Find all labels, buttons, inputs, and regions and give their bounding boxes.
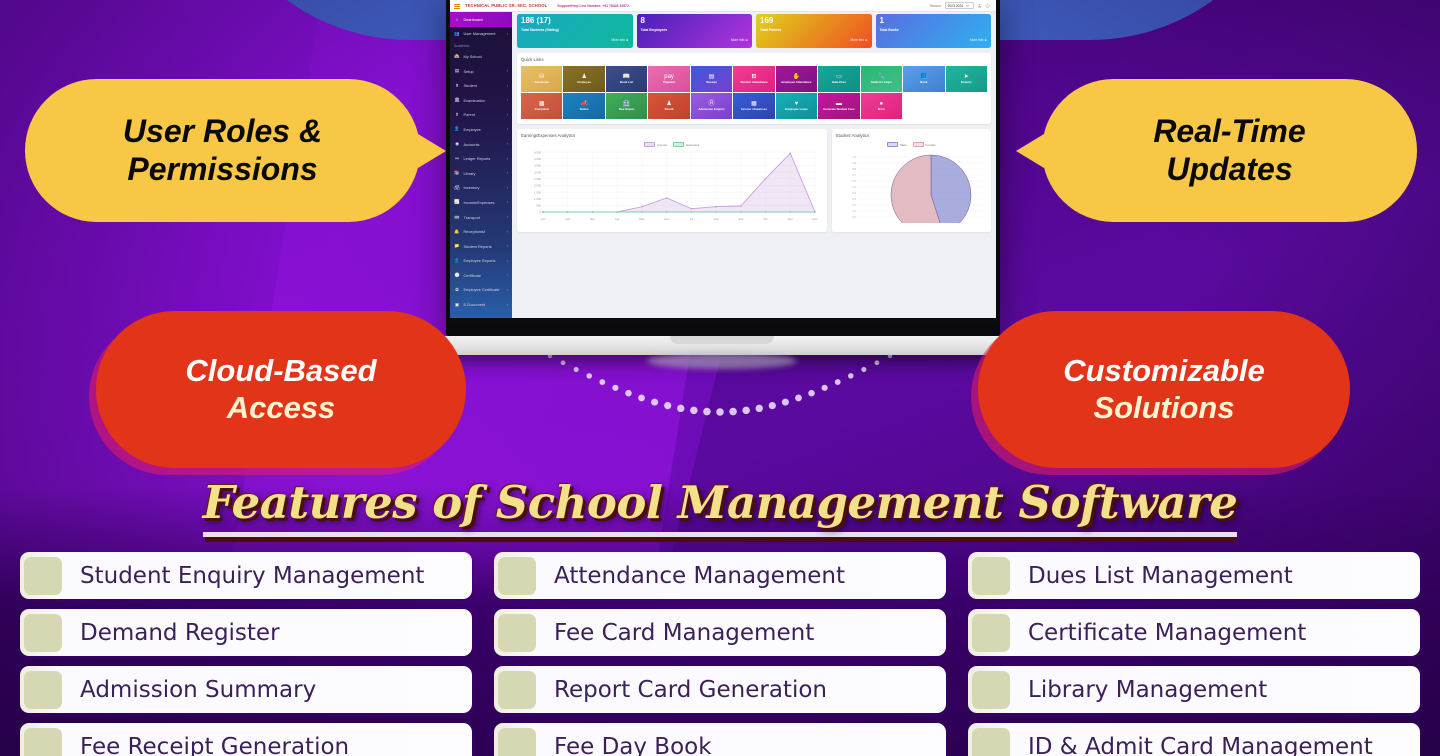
sidebar-item-my-school[interactable]: 🏫My School [450, 49, 512, 64]
quick-links-card: Quick Links ⛁Admission♟Employee📖Book Lis… [517, 53, 991, 124]
svg-text:Dec: Dec [813, 217, 819, 221]
feature-label: Attendance Management [536, 563, 845, 589]
quick-link-gate-pass[interactable]: ▭Gate-Pass [818, 66, 859, 92]
sidebar-item-certificate[interactable]: ⬤Certificate‹ [450, 268, 512, 283]
legend-swatch [673, 142, 684, 147]
feature-label: Demand Register [62, 620, 280, 646]
stat-value: 8 [641, 17, 749, 25]
chevron-left-icon: ‹ [507, 200, 508, 204]
result-icon: ♟ [666, 101, 671, 107]
parent-icon: ⚱ [454, 112, 460, 118]
chevron-left-icon: ‹ [507, 244, 508, 248]
quick-link-label: Admission Enquiry [698, 108, 724, 111]
legend-item: Female [913, 142, 936, 147]
feature-bullet-icon [24, 671, 62, 709]
sidebar-item-income-expenses[interactable]: 📈Income/Expenses‹ [450, 195, 512, 210]
stat-card[interactable]: 8Total EmployeesMore Info ⊕ [637, 14, 753, 48]
chevron-left-icon: ‹ [507, 32, 508, 36]
chevron-left-icon: ‹ [507, 186, 508, 190]
feature-bullet-icon [498, 557, 536, 595]
quick-links-title: Quick Links [521, 57, 987, 62]
earning-chart-svg: 05001,0001,5002,0002,5003,0003,5004,0004… [521, 149, 821, 223]
bell-icon: 🔔 [454, 229, 460, 235]
quick-link-book[interactable]: 📘Book [903, 66, 944, 92]
quick-link-admission[interactable]: ⛁Admission [521, 66, 562, 92]
sidebar-item-label: Student Reports [464, 244, 492, 249]
quick-link-label: Enquiry [961, 81, 972, 84]
quick-link-student-ledger[interactable]: 🔧Student Ledger [861, 66, 902, 92]
feature-label: Admission Summary [62, 677, 316, 703]
box-icon: 🗃 [454, 185, 460, 191]
chevron-left-icon: ‹ [507, 273, 508, 277]
callout-line: Access [227, 390, 336, 427]
quick-link-label: Employee [577, 81, 591, 84]
home-icon: ⌂ [454, 17, 460, 22]
laptop-mockup: TECHNICAL PUBLIC SR. SEC. SCHOOL Support… [446, 0, 1000, 355]
feature-bullet-icon [498, 614, 536, 652]
svg-text:0.5: 0.5 [852, 185, 856, 189]
chevron-left-icon: ‹ [507, 69, 508, 73]
sidebar-item-label: Parent [464, 112, 475, 117]
sidebar-item-label: Certificate [464, 273, 482, 278]
school-name: TECHNICAL PUBLIC SR. SEC. SCHOOL [465, 3, 547, 8]
sidebar-item-student-reports[interactable]: 📁Student Reports‹ [450, 239, 512, 254]
network-icon: ⚯ [454, 156, 460, 162]
laptop-base [384, 336, 1060, 355]
stat-cards: 186 (17)Total Students (Sibling)More Inf… [517, 14, 991, 48]
book-icon: 📖 [623, 74, 630, 80]
topbar-right: Session: 2023-2024 [930, 2, 992, 9]
legend-swatch [644, 142, 655, 147]
quick-link-label: Gate-Pass [832, 81, 846, 84]
quick-link-label: Payment [663, 81, 675, 84]
legend-swatch [913, 142, 924, 147]
quick-link-income-expenses[interactable]: ▦Income / Expenses [733, 93, 774, 119]
megaphone-icon: 📣 [580, 101, 587, 107]
legend-label: Male [900, 143, 907, 147]
badge-icon: Ⓡ [709, 101, 715, 107]
quick-link-student-attendance[interactable]: ⛾Student Attendance [733, 66, 774, 92]
sidebar-item-inventory[interactable]: 🗃Inventory‹ [450, 181, 512, 196]
receipt-icon: ▤ [709, 74, 715, 80]
stat-label: Total Books [880, 28, 988, 32]
stat-more-link[interactable]: More Info ⊕ [521, 38, 629, 42]
sidebar-item-label: E-Document [464, 302, 486, 307]
feature-label: Report Card Generation [536, 677, 827, 703]
quick-link-label: Employee Attendance [781, 81, 811, 84]
callout-customizable: Customizable Solutions [978, 311, 1350, 468]
chevron-left-icon: ‹ [507, 84, 508, 88]
quick-link-label: Book [920, 81, 927, 84]
feature-label: Certificate Management [1010, 620, 1306, 646]
svg-text:Sep: Sep [738, 217, 743, 221]
stat-more-link[interactable]: More Info ⊕ [760, 38, 868, 42]
svg-text:0.3: 0.3 [852, 197, 856, 201]
sidebar-item-label: Employee [464, 127, 481, 132]
power-icon[interactable] [985, 3, 990, 8]
svg-text:2,500: 2,500 [534, 177, 541, 181]
quick-link-label: Result [665, 108, 674, 111]
coin-icon: ◉ [454, 141, 460, 147]
dashboard-sidebar[interactable]: Technical Help India ⌂Dashboard👥User Man… [450, 0, 512, 318]
sidebar-item-label: User Management [464, 31, 496, 36]
quick-link-employee-attendance[interactable]: ✋Employee Attendance [776, 66, 817, 92]
svg-text:Jul: Jul [690, 217, 694, 221]
sidebar-item-label: Student [464, 83, 477, 88]
svg-text:4,500: 4,500 [534, 150, 541, 154]
stat-more-link[interactable]: More Info ⊕ [880, 38, 988, 42]
feature-bullet-icon [24, 728, 62, 756]
chevron-left-icon: ‹ [507, 127, 508, 131]
callout-line: Solutions [1093, 390, 1234, 427]
books-icon: 📚 [454, 170, 460, 176]
session-label: Session: [930, 4, 942, 8]
bank2-icon: 🏦 [623, 101, 630, 107]
svg-text:May: May [639, 217, 645, 221]
feature-item: Student Enquiry Management [20, 552, 472, 599]
stat-label: Total Employees [641, 28, 749, 32]
feature-bullet-icon [972, 557, 1010, 595]
quick-link-complaint[interactable]: ▦Complaint [521, 93, 562, 119]
feature-bullet-icon [972, 614, 1010, 652]
quick-link-label: Book List [620, 81, 633, 84]
quick-link-employee-leave[interactable]: ♥Employee Leave [776, 93, 817, 119]
feature-item: Fee Receipt Generation [20, 723, 472, 756]
sidebar-item-label: Ledger Reports [464, 156, 491, 161]
chevron-left-icon: ‹ [507, 303, 508, 307]
heart-icon: ♥ [795, 101, 799, 107]
section-title: Features of School Management Software [0, 476, 1440, 529]
sidebar-item-ledger-reports[interactable]: ⚯Ledger Reports‹ [450, 151, 512, 166]
callout-line: Cloud-Based [185, 353, 376, 390]
more-icon: ● [880, 101, 884, 107]
document-icon: ▣ [454, 302, 460, 308]
quick-link-more[interactable]: ●More [861, 93, 902, 119]
session-select[interactable]: 2023-2024 [945, 2, 974, 9]
callout-line: Permissions [127, 151, 317, 189]
svg-text:Aug: Aug [714, 217, 719, 221]
student-chart-svg: 1.00.90.80.70.60.50.40.30.20.10.0 [836, 149, 986, 223]
svg-text:June: June [664, 217, 671, 221]
chevron-left-icon: ‹ [507, 288, 508, 292]
gear-icon: ✿ [454, 287, 460, 293]
quick-link-label: Student Ledger [871, 81, 892, 84]
feature-item: Certificate Management [968, 609, 1420, 656]
chevron-left-icon: ‹ [507, 230, 508, 234]
legend-label: Female [926, 143, 936, 147]
student-chart-title: Student Analytics [836, 133, 987, 138]
quick-link-result[interactable]: ♟Result [648, 93, 689, 119]
feature-bullet-icon [498, 671, 536, 709]
person-icon: 👤 [454, 258, 460, 264]
app-topbar: TECHNICAL PUBLIC SR. SEC. SCHOOL Support… [450, 0, 996, 12]
svg-text:0.1: 0.1 [852, 209, 856, 213]
feature-label: Dues List Management [1010, 563, 1293, 589]
feature-bullet-icon [498, 728, 536, 756]
sidebar-item-library[interactable]: 📚Library‹ [450, 166, 512, 181]
callout-user-roles: User Roles & Permissions [25, 79, 420, 222]
sidebar-item-employee[interactable]: 👤Employee‹ [450, 122, 512, 137]
feature-item: Demand Register [20, 609, 472, 656]
svg-text:3,500: 3,500 [534, 164, 541, 168]
svg-text:4,000: 4,000 [534, 157, 541, 161]
plane-icon: ➤ [964, 74, 969, 80]
quick-link-notice[interactable]: 📣Notice [563, 93, 604, 119]
sidebar-item-label: Receptionist [464, 229, 485, 234]
hamburger-icon[interactable] [454, 3, 460, 9]
stat-card[interactable]: 1Total BooksMore Info ⊕ [876, 14, 992, 48]
feature-label: ID & Admit Card Management [1010, 734, 1373, 756]
legend-label: Expenses [686, 143, 699, 147]
sidebar-item-parent[interactable]: ⚱Parent‹ [450, 108, 512, 123]
quick-link-due-report[interactable]: 🏦Due Report [606, 93, 647, 119]
chevron-left-icon: ‹ [507, 157, 508, 161]
feature-bullet-icon [24, 557, 62, 595]
svg-text:0.8: 0.8 [852, 167, 856, 171]
quick-link-generate-student-fees[interactable]: ▬Generate Student Fees [818, 93, 859, 119]
laptop-base-shadow [647, 353, 797, 369]
quick-link-enquiry[interactable]: ➤Enquiry [946, 66, 987, 92]
feature-label: Student Enquiry Management [62, 563, 424, 589]
svg-text:0.7: 0.7 [852, 173, 856, 177]
feature-bullet-icon [24, 614, 62, 652]
student-chart-legend: MaleFemale [836, 142, 987, 147]
sidebar-item-label: Accounts [464, 142, 480, 147]
quick-link-payment[interactable]: payPayment [648, 66, 689, 92]
charts-row: Earning/Expenses Analytics IncomeExpense… [517, 129, 991, 232]
sidebar-item-label: Employee Reports [464, 258, 496, 263]
legend-swatch [887, 142, 898, 147]
svg-text:0.4: 0.4 [852, 191, 856, 195]
feature-item: ID & Admit Card Management [968, 723, 1420, 756]
sidebar-item-transport[interactable]: 🚌Transport‹ [450, 210, 512, 225]
feature-bullet-icon [972, 728, 1010, 756]
sidebar-item-student[interactable]: ⚱Student‹ [450, 78, 512, 93]
quick-link-label: Income / Expenses [741, 108, 767, 111]
svg-text:500: 500 [536, 204, 541, 208]
features-grid: Student Enquiry ManagementAttendance Man… [0, 552, 1440, 756]
svg-text:0.0: 0.0 [852, 215, 856, 219]
callout-line: Updates [1166, 151, 1292, 189]
callout-real-time: Real-Time Updates [1042, 79, 1417, 222]
quick-link-label: Due Report [619, 108, 635, 111]
quick-links-grid[interactable]: ⛁Admission♟Employee📖Book ListpayPayment▤… [521, 66, 987, 119]
sidebar-item-label: Transport [464, 215, 481, 220]
users-icon: 👥 [454, 31, 460, 37]
sidebar-item-examination[interactable]: 🏛Examination‹ [450, 93, 512, 108]
pay-icon: pay [664, 74, 674, 80]
chevron-left-icon: ‹ [507, 259, 508, 263]
grid-icon: ▦ [539, 101, 545, 107]
sidebar-list[interactable]: ⌂Dashboard👥User Management‹Academic🏫My S… [450, 12, 512, 312]
sidebar-item-employee-reports[interactable]: 👤Employee Reports‹ [450, 254, 512, 269]
svg-text:1.0: 1.0 [852, 155, 856, 159]
feature-label: Fee Day Book [536, 734, 712, 756]
callout-line: Real-Time [1153, 113, 1305, 151]
calendar-icon: ⛾ [752, 74, 757, 80]
sidebar-item-label: Income/Expenses [464, 200, 495, 205]
svg-text:0.6: 0.6 [852, 179, 856, 183]
chevron-down-icon [965, 3, 970, 8]
book2-icon: 📘 [920, 74, 927, 80]
stat-more-link[interactable]: More Info ⊕ [641, 38, 749, 42]
sidebar-item-setup[interactable]: ▤Setup‹ [450, 64, 512, 79]
stat-label: Total Parents [760, 28, 868, 32]
user-icon[interactable] [977, 3, 982, 8]
sidebar-item-employee-certificate[interactable]: ✿Employee Certificate‹ [450, 283, 512, 298]
calc-icon: ▦ [751, 101, 757, 107]
quick-link-label: Admission [534, 81, 549, 84]
helpline-text: Support/Help Line Number: +91 78328 3397… [557, 4, 629, 8]
dashboard-content: 186 (17)Total Students (Sibling)More Inf… [512, 0, 996, 318]
sidebar-item-label: Inventory [464, 185, 480, 190]
sidebar-item-label: Examination [464, 98, 485, 103]
section-title-text: Features of School Management Software [203, 476, 1238, 537]
chart-icon: 📈 [454, 199, 460, 205]
svg-text:Feb: Feb [565, 217, 570, 221]
svg-text:Oct: Oct [763, 217, 768, 221]
sidebar-item-dashboard[interactable]: ⌂Dashboard [450, 12, 512, 27]
feature-item: Admission Summary [20, 666, 472, 713]
sidebar-item-label: My School [464, 54, 482, 59]
feature-item: Fee Card Management [494, 609, 946, 656]
laptop-notch [670, 336, 774, 344]
sidebar-item-e-document[interactable]: ▣E-Document‹ [450, 297, 512, 312]
legend-label: Income [657, 143, 667, 147]
folder-icon: 📁 [454, 243, 460, 249]
chevron-left-icon: ‹ [507, 171, 508, 175]
student-icon: ⚱ [454, 83, 460, 89]
quick-link-label: Complaint [535, 108, 549, 111]
person-icon: 👤 [454, 126, 460, 132]
stat-value: 186 (17) [521, 17, 629, 25]
quick-link-label: Receipt [706, 81, 716, 84]
sidebar-item-label: Employee Certificate [464, 287, 500, 292]
stat-value: 1 [880, 17, 988, 25]
quick-link-label: Notice [580, 108, 589, 111]
sidebar-item-accounts[interactable]: ◉Accounts‹ [450, 137, 512, 152]
svg-text:Nov: Nov [788, 217, 794, 221]
certificate-icon: ⬤ [454, 272, 460, 278]
legend-item: Income [644, 142, 667, 147]
student-chart-card: Student Analytics MaleFemale 1.00.90.80.… [832, 129, 991, 232]
chevron-left-icon: ‹ [507, 142, 508, 146]
svg-text:0.2: 0.2 [852, 203, 856, 207]
callout-line: User Roles & [123, 113, 322, 151]
svg-text:1,500: 1,500 [534, 190, 541, 194]
session-value: 2023-2024 [948, 4, 963, 8]
feature-item: Library Management [968, 666, 1420, 713]
bus-icon: 🚌 [454, 214, 460, 220]
svg-text:0.9: 0.9 [852, 161, 856, 165]
feature-item: Report Card Generation [494, 666, 946, 713]
dashboard-screen: TECHNICAL PUBLIC SR. SEC. SCHOOL Support… [450, 0, 996, 318]
stat-value: 169 [760, 17, 868, 25]
sidebar-item-label: Setup [464, 69, 474, 74]
svg-text:Jan: Jan [541, 217, 546, 221]
chevron-left-icon: ‹ [507, 215, 508, 219]
earning-chart-legend: IncomeExpenses [521, 142, 823, 147]
quick-link-receipt[interactable]: ▤Receipt [691, 66, 732, 92]
quick-link-label: Employee Leave [785, 108, 808, 111]
sidebar-section-label: Academic [450, 41, 512, 49]
feature-item: Fee Day Book [494, 723, 946, 756]
stat-card[interactable]: 169Total ParentsMore Info ⊕ [756, 14, 872, 48]
callout-tail [418, 134, 446, 168]
svg-text:Mar: Mar [590, 217, 595, 221]
feature-item: Dues List Management [968, 552, 1420, 599]
callout-cloud-based: Cloud-Based Access [96, 311, 466, 468]
svg-text:2,000: 2,000 [534, 184, 541, 188]
chevron-left-icon: ‹ [507, 113, 508, 117]
feature-item: Attendance Management [494, 552, 946, 599]
svg-text:0: 0 [539, 210, 541, 214]
quick-link-label: More [878, 108, 885, 111]
feature-label: Library Management [1010, 677, 1267, 703]
hand-icon: ✋ [793, 74, 800, 80]
list-icon: ▤ [454, 68, 460, 74]
sidebar-item-user-management[interactable]: 👥User Management‹ [450, 27, 512, 42]
callout-line: Customizable [1063, 353, 1265, 390]
employee-icon: ♟ [581, 74, 586, 80]
feature-label: Fee Receipt Generation [62, 734, 349, 756]
screen-bezel: TECHNICAL PUBLIC SR. SEC. SCHOOL Support… [446, 0, 1000, 336]
stat-card[interactable]: 186 (17)Total Students (Sibling)More Inf… [517, 14, 633, 48]
quick-link-admission-enquiry[interactable]: ⓇAdmission Enquiry [691, 93, 732, 119]
feature-label: Fee Card Management [536, 620, 814, 646]
pass-icon: ▭ [836, 74, 842, 80]
legend-item: Expenses [673, 142, 699, 147]
quick-link-employee[interactable]: ♟Employee [563, 66, 604, 92]
sidebar-item-receptionist[interactable]: 🔔Receptionist‹ [450, 224, 512, 239]
quick-link-label: Student Attendance [740, 81, 767, 84]
chevron-left-icon: ‹ [507, 98, 508, 102]
svg-text:3,000: 3,000 [534, 170, 541, 174]
svg-text:1,000: 1,000 [534, 197, 541, 201]
sidebar-item-label: Library [464, 171, 476, 176]
svg-text:Apr: Apr [615, 217, 619, 221]
legend-item: Male [887, 142, 907, 147]
stat-label: Total Students (Sibling) [521, 28, 629, 32]
admission-icon: ⛁ [539, 74, 544, 80]
school-icon: 🏫 [454, 53, 460, 59]
bank-icon: 🏛 [454, 97, 460, 103]
wrench-icon: 🔧 [878, 74, 885, 80]
feature-bullet-icon [972, 671, 1010, 709]
callout-tail [1016, 134, 1044, 168]
earning-chart-card: Earning/Expenses Analytics IncomeExpense… [517, 129, 827, 232]
quick-link-book-list[interactable]: 📖Book List [606, 66, 647, 92]
earning-chart-title: Earning/Expenses Analytics [521, 133, 823, 138]
card-icon: ▬ [836, 101, 842, 107]
quick-link-label: Generate Student Fees [823, 108, 855, 111]
sidebar-item-label: Dashboard [464, 17, 483, 22]
